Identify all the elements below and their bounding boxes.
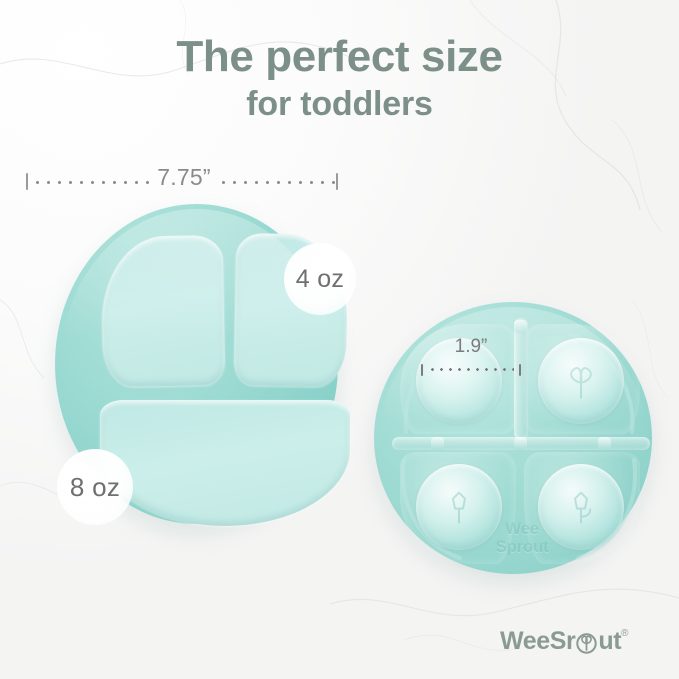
suction-cup-top-right <box>538 338 624 424</box>
suction-cup-width-label: 1.9” <box>419 336 523 358</box>
brand-name-part2: r <box>566 627 575 656</box>
suction-dimension-dots <box>428 368 514 371</box>
suction-cup-bottom-left <box>416 464 502 550</box>
divider-nub-right <box>598 437 611 450</box>
rib-arc-bottom-left <box>394 452 504 562</box>
capacity-badge-4oz: 4 oz <box>284 243 356 315</box>
suction-dimension-cap-right <box>519 364 521 376</box>
plate-width-label: 7.75” <box>154 164 214 191</box>
divider-nub-top <box>514 320 527 333</box>
suction-cup-valve-icon <box>444 491 474 525</box>
capacity-badge-8oz-label: 8 oz <box>70 472 120 503</box>
brand-name-part1: WeeS <box>500 627 566 656</box>
dimension-dotted-line-right <box>218 181 336 184</box>
compartment-top-left <box>101 235 226 387</box>
suction-cup-width-dimension: 1.9” <box>419 336 523 378</box>
rib-arc-bottom-right <box>534 452 644 562</box>
plate-width-dimension: 7.75” <box>26 170 338 194</box>
suction-cup-valve-icon <box>566 491 596 525</box>
divider-ridge-horizontal <box>392 437 650 450</box>
divider-nub-center <box>514 437 527 450</box>
rib-arc-top-right <box>534 328 644 438</box>
embossed-brand-mark: Wee Sprout <box>462 520 582 560</box>
capacity-badge-8oz: 8 oz <box>57 449 133 525</box>
suction-cup-valve-icon <box>566 365 596 399</box>
dimension-dotted-line-left <box>32 181 150 184</box>
headline-secondary: for toddlers <box>0 85 679 124</box>
dimension-end-cap-left <box>26 173 28 190</box>
capacity-badge-4oz-label: 4 oz <box>296 265 344 294</box>
product-image-canvas: The perfect size for toddlers 7.75” <box>0 0 679 679</box>
dimension-end-cap-right <box>336 173 338 190</box>
divider-nub-left <box>431 437 444 450</box>
suction-dimension-cap-left <box>421 364 423 376</box>
embossed-line-1: Wee <box>462 520 582 538</box>
suction-dimension-line <box>421 364 521 376</box>
compartment-bottom-large <box>100 400 350 526</box>
brand-name-part3: ut <box>598 627 621 656</box>
suction-cup-bottom-right <box>538 464 624 550</box>
headline-block: The perfect size for toddlers <box>0 34 679 124</box>
sprout-icon <box>576 633 597 654</box>
headline-primary: The perfect size <box>0 34 679 81</box>
brand-logo: WeeS r ut ® <box>500 626 629 656</box>
embossed-line-2: Sprout <box>462 538 582 556</box>
registered-trademark-symbol: ® <box>621 628 628 639</box>
